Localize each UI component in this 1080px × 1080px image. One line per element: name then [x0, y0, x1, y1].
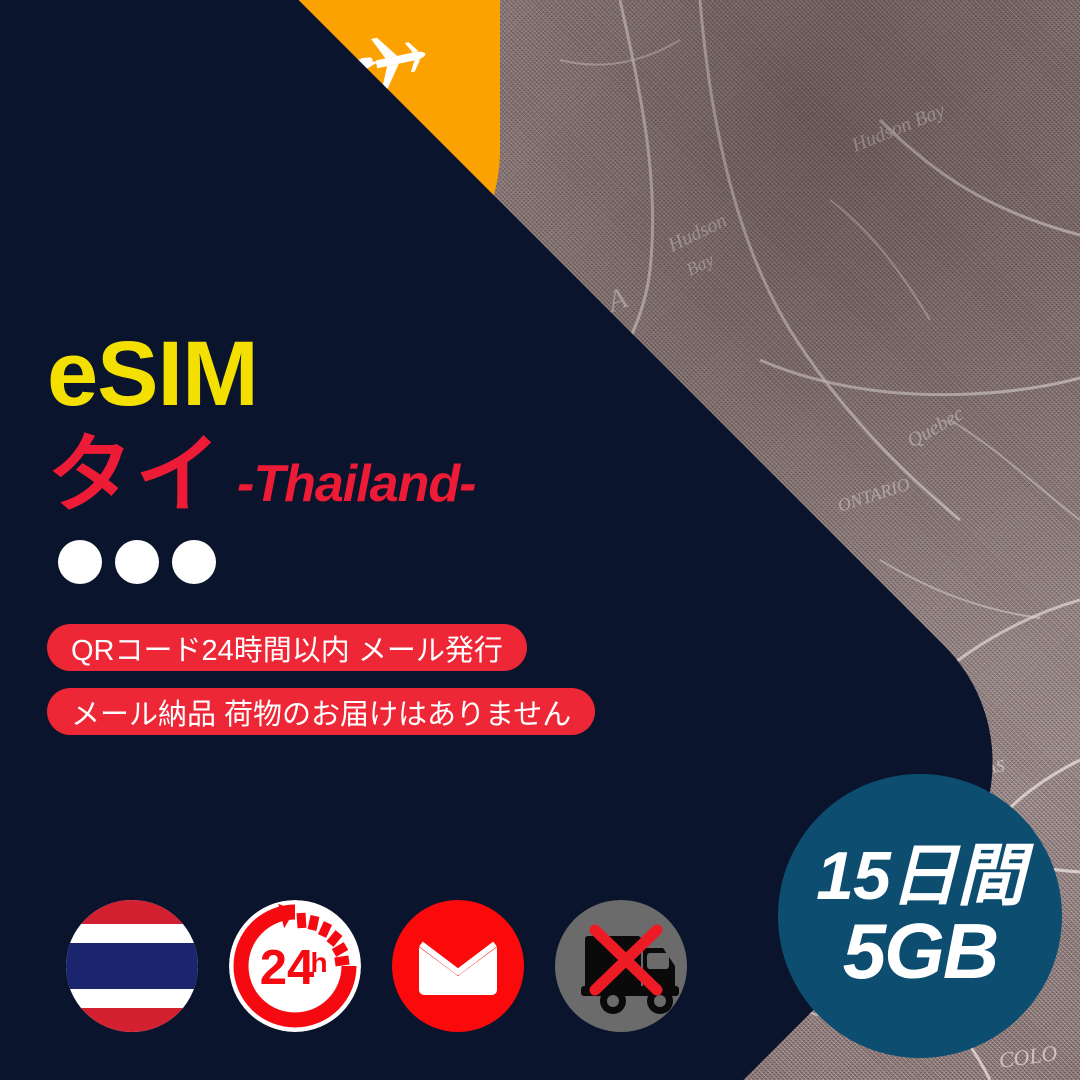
no-delivery-truck-icon [555, 900, 687, 1032]
dot-1 [58, 540, 102, 584]
esim-promo-banner: Hudson Bay Hudson Bay A Quebec ONTARIO S… [0, 0, 1080, 1080]
dot-3 [172, 540, 216, 584]
mail-envelope-icon [392, 900, 524, 1032]
feature-icon-row: 24 h [66, 900, 687, 1032]
plan-data-volume: 5GB [843, 912, 997, 990]
country-name-en: -Thailand- [237, 458, 475, 518]
feature-pill-qr-delivery: QRコード24時間以内 メール発行 [47, 624, 527, 671]
country-name-jp: タイ [47, 432, 223, 518]
plan-duration: 15日間 [816, 842, 1024, 911]
decorative-dots [58, 540, 216, 584]
feature-pill-no-shipping: メール納品 荷物のお届けはありません [47, 688, 595, 735]
svg-text:24: 24 [260, 941, 315, 995]
plan-badge: 15日間 5GB [778, 774, 1062, 1058]
24h-clock-icon: 24 h [229, 900, 361, 1032]
svg-text:h: h [310, 947, 327, 978]
banner-content: eSIM タイ -Thailand- QRコード24時間以内 メール発行 メール… [0, 0, 1080, 1080]
thailand-flag-icon [66, 900, 198, 1032]
dot-2 [115, 540, 159, 584]
country-title-group: タイ -Thailand- [47, 432, 475, 518]
product-title: eSIM [47, 328, 258, 420]
